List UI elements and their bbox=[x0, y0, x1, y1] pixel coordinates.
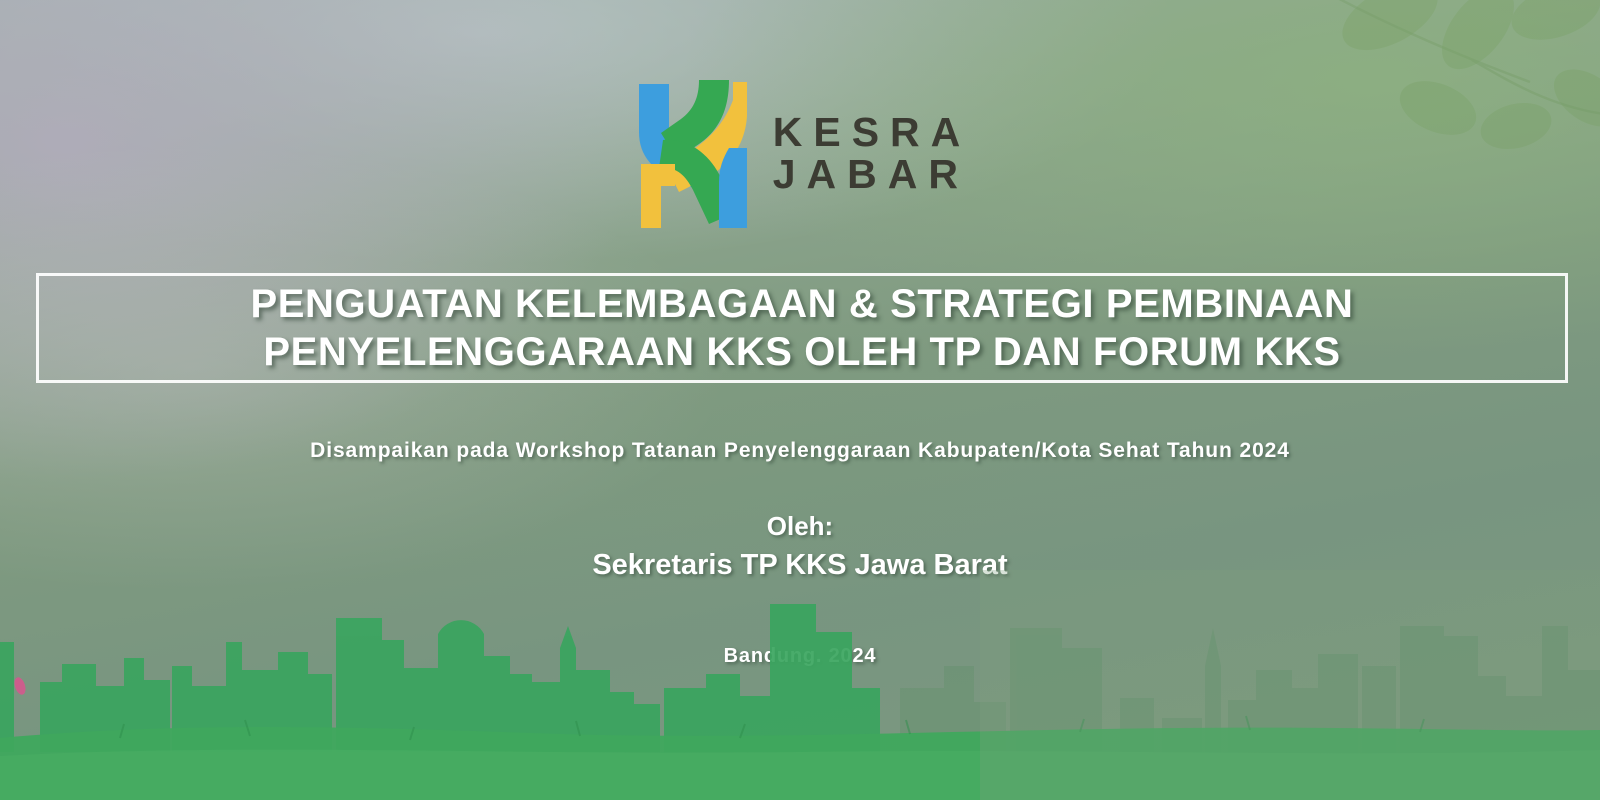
title-line-1: PENGUATAN KELEMBAGAAN & STRATEGI PEMBINA… bbox=[251, 280, 1354, 328]
logo-word-kesra: KESRA bbox=[773, 112, 972, 154]
kesra-jabar-logo-mark-icon bbox=[629, 78, 747, 230]
presentation-slide: KESRA JABAR PENGUATAN KELEMBAGAAN & STRA… bbox=[0, 0, 1600, 800]
flower-accent-icon bbox=[12, 676, 27, 696]
title-box: PENGUATAN KELEMBAGAAN & STRATEGI PEMBINA… bbox=[36, 273, 1568, 383]
logo-wordmark: KESRA JABAR bbox=[773, 112, 972, 196]
byline-label: Oleh: bbox=[0, 508, 1600, 545]
subtitle: Disampaikan pada Workshop Tatanan Penyel… bbox=[0, 439, 1600, 463]
city-skyline-illustration bbox=[0, 570, 1600, 800]
logo-block: KESRA JABAR bbox=[0, 78, 1600, 230]
title-line-2: PENYELENGGARAAN KKS OLEH TP DAN FORUM KK… bbox=[263, 328, 1340, 376]
logo-word-jabar: JABAR bbox=[773, 154, 972, 196]
